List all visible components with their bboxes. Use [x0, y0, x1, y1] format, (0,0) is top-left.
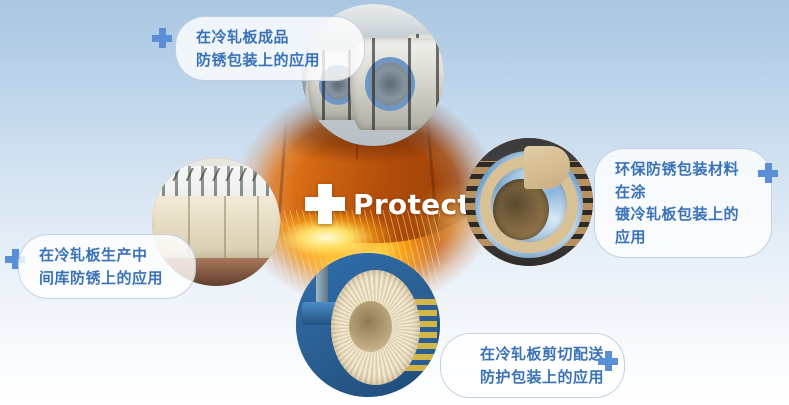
- coil-band: [416, 34, 419, 130]
- coil-core: [493, 179, 549, 240]
- callout-photo-bottom[interactable]: [296, 253, 440, 397]
- cover-seam: [224, 196, 226, 263]
- coil-band: [408, 38, 411, 130]
- kraft-cap-strip: [524, 146, 570, 190]
- vci-wrapped-coil-photo: [465, 138, 593, 266]
- kraft-edge-protector: [480, 156, 577, 253]
- callout-label-left[interactable]: 在冷轧板生产中 间库防锈上的应用: [18, 234, 196, 299]
- coil-wrapping-machine-photo: [296, 253, 440, 397]
- cover-seam: [257, 196, 259, 263]
- vci-film-ring: [475, 151, 583, 259]
- coil-band: [372, 38, 375, 130]
- coil-core: [349, 301, 392, 353]
- plus-icon-bottom: [598, 351, 618, 371]
- protection-banner: Protection: [0, 0, 789, 405]
- plus-icon-right: [758, 163, 778, 183]
- white-plus-icon: [305, 184, 345, 224]
- callout-label-right[interactable]: 环保防锈包装材料在涂 镀冷轧板包装上的应用: [594, 148, 772, 258]
- roof-truss: [152, 168, 280, 181]
- pallet-background: [465, 161, 593, 245]
- coil-eye: [370, 62, 410, 106]
- callout-photo-right[interactable]: [465, 138, 593, 266]
- callout-label-top[interactable]: 在冷轧板成品 防锈包装上的应用: [175, 16, 365, 81]
- machine-arm: [302, 302, 339, 325]
- machine-panel: [388, 296, 437, 371]
- paper-wrapped-coil: [331, 270, 420, 385]
- machine-post: [316, 259, 328, 322]
- coil-band: [436, 38, 439, 130]
- plus-icon-top: [152, 28, 172, 48]
